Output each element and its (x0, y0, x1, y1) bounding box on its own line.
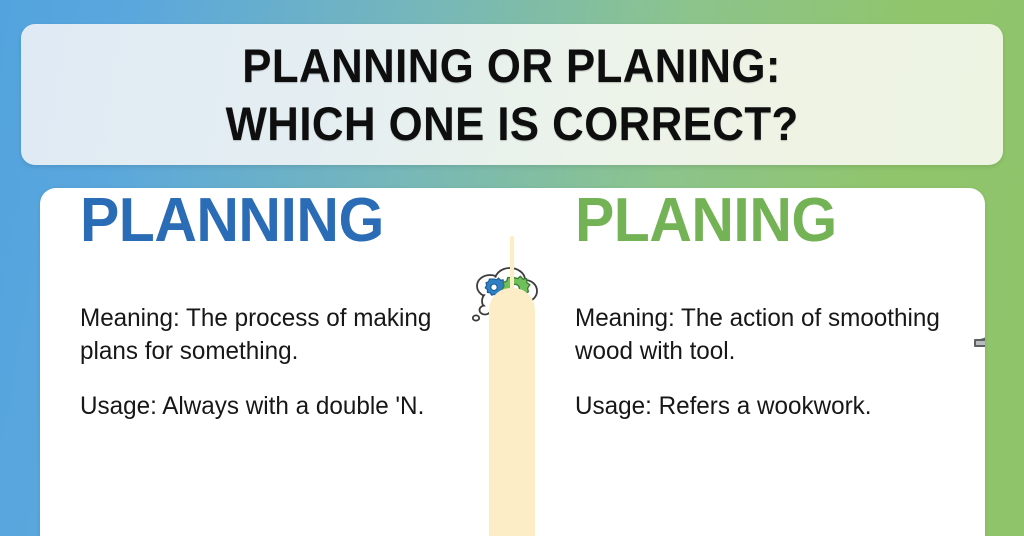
heading-planing: PLANING (575, 188, 974, 254)
column-planning: PLANNING (80, 188, 500, 423)
page-title-line-2: WHICH ONE IS CORRECT? (225, 95, 798, 153)
definitions-planning: Meaning: The process of making plans for… (80, 302, 500, 423)
content-panel: PLANNING (40, 188, 985, 536)
infographic-root: PLANNING OR PLANING: WHICH ONE IS CORREC… (0, 0, 1024, 536)
meaning-planing: Meaning: The action of smoothing wood wi… (575, 302, 982, 368)
heading-planning: PLANNING (80, 188, 479, 254)
meaning-planning: Meaning: The process of making plans for… (80, 302, 487, 368)
usage-planning: Usage: Always with a double 'N. (80, 390, 487, 423)
definitions-planing: Meaning: The action of smoothing wood wi… (575, 302, 985, 423)
title-card: PLANNING OR PLANING: WHICH ONE IS CORREC… (21, 24, 1003, 165)
page-title-line-1: PLANNING OR PLANING: (243, 37, 782, 95)
usage-planing: Usage: Refers a wookwork. (575, 390, 982, 423)
column-planing: PLANING (575, 188, 985, 423)
